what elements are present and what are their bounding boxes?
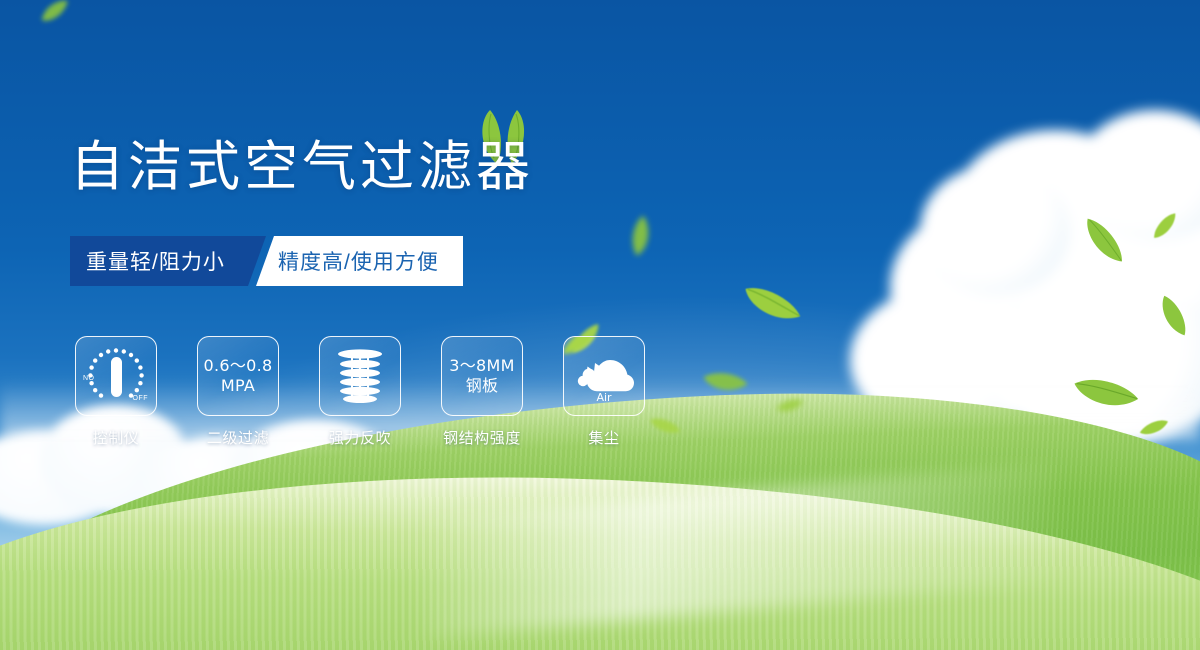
- pressure-unit: MPA: [204, 376, 273, 396]
- cloud-air-icon: Air: [573, 350, 635, 402]
- feature-icon-box: 0.6～0.8 MPA: [197, 336, 279, 416]
- feature-label: 钢结构强度: [443, 427, 521, 448]
- feature-icon-box: [319, 336, 401, 416]
- feature-icon-box: NO OFF: [75, 336, 157, 416]
- pressure-range: 0.6～0.8: [204, 356, 273, 375]
- feature-icon-box: Air: [563, 336, 645, 416]
- feature-item-two-stage-filter[interactable]: 0.6～0.8 MPA 二级过滤: [192, 336, 284, 448]
- page-title: 自洁式空气过滤器: [70, 140, 534, 194]
- feature-label: 集尘: [588, 427, 619, 448]
- feature-icon-box: 3～8MM 钢板: [441, 336, 523, 416]
- subtitle-right-segment: 精度高/使用方便: [256, 236, 463, 286]
- feature-item-dust-collection[interactable]: Air 集尘: [558, 336, 650, 448]
- feature-item-pulse-blowback[interactable]: 强力反吹: [314, 336, 406, 448]
- pressure-value-icon: 0.6～0.8 MPA: [204, 356, 273, 395]
- steel-material: 钢板: [449, 376, 514, 396]
- product-banner: 自洁式空气过滤器 重量轻/阻力小 精度高/使用方便: [0, 0, 1200, 650]
- subtitle-left-segment: 重量轻/阻力小: [70, 236, 266, 286]
- cloud-air-text: Air: [596, 391, 612, 402]
- steel-thickness: 3～8MM: [449, 356, 514, 375]
- steel-plate-value-icon: 3～8MM 钢板: [449, 356, 514, 395]
- gauge-needle: [111, 357, 122, 397]
- subtitle-bar: 重量轻/阻力小 精度高/使用方便: [70, 236, 463, 286]
- filter-cartridge-icon: [332, 347, 388, 405]
- feature-item-steel-structure[interactable]: 3～8MM 钢板 钢结构强度: [436, 336, 528, 448]
- feature-item-controller[interactable]: NO OFF 控制仪: [70, 336, 162, 448]
- feature-label: 强力反吹: [329, 427, 391, 448]
- gauge-dial-icon: NO OFF: [85, 345, 147, 407]
- gauge-off-label: OFF: [133, 395, 149, 402]
- feature-list: NO OFF 控制仪 0.6～0.8 MPA 二级过滤: [70, 336, 650, 448]
- feature-label: 二级过滤: [207, 427, 269, 448]
- gauge-on-label: NO: [83, 375, 95, 382]
- feature-label: 控制仪: [93, 427, 140, 448]
